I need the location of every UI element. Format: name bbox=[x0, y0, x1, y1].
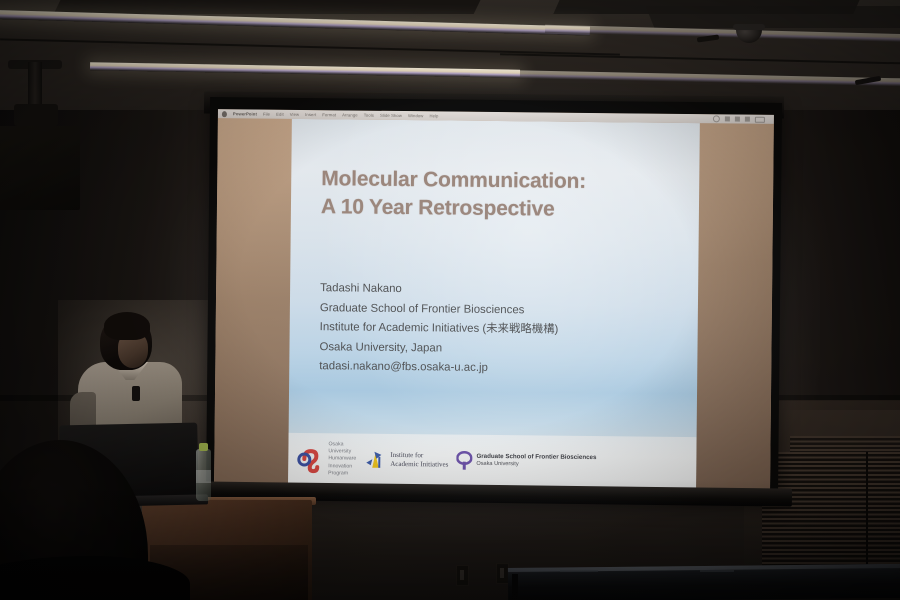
search-icon[interactable] bbox=[713, 115, 720, 122]
water-bottle-label bbox=[196, 470, 211, 483]
slide-title: Molecular Communication: A 10 Year Retro… bbox=[321, 165, 682, 225]
projected-desktop: Molecular Communication: A 10 Year Retro… bbox=[214, 109, 774, 490]
slide-title-line-1: Molecular Communication: bbox=[321, 167, 586, 193]
ceiling-panel bbox=[646, 6, 900, 28]
presenter-hair bbox=[104, 312, 150, 340]
front-desk-leg bbox=[512, 574, 518, 600]
ceiling-projector bbox=[14, 104, 58, 126]
presentation-slide: Molecular Communication: A 10 Year Retro… bbox=[288, 119, 700, 489]
slatted-acoustic-panel bbox=[762, 452, 900, 574]
logo-line: Academic Initiatives bbox=[390, 460, 448, 470]
dome-camera-icon bbox=[736, 28, 762, 43]
logo-academic-initiatives-text: Institute for Academic Initiatives bbox=[390, 451, 448, 470]
ceiling-speaker bbox=[0, 126, 80, 210]
menu-item-window[interactable]: Window bbox=[408, 111, 424, 120]
apple-logo-icon[interactable] bbox=[222, 111, 227, 117]
desk-cable-slot bbox=[700, 570, 734, 572]
presenter-lapel-microphone bbox=[132, 386, 140, 401]
wall-outlet bbox=[456, 565, 469, 586]
menu-item-tools[interactable]: Tools bbox=[364, 111, 374, 120]
logo-osaka-humanware: Osaka University Humanware Innovation Pr… bbox=[294, 440, 356, 478]
logo-line: Program bbox=[328, 470, 356, 478]
logo-osaka-humanware-text: Osaka University Humanware Innovation Pr… bbox=[328, 441, 356, 478]
light-strip-icon bbox=[470, 69, 900, 86]
fbs-mark-icon bbox=[456, 451, 472, 471]
humanware-mark-icon bbox=[294, 444, 324, 474]
wifi-icon[interactable] bbox=[725, 116, 730, 121]
menu-item-view[interactable]: View bbox=[290, 110, 300, 119]
ceiling-panel bbox=[54, 0, 487, 14]
light-strip-icon bbox=[90, 62, 520, 78]
logo-frontier-biosciences-text: Graduate School of Frontier Biosciences … bbox=[476, 453, 596, 469]
logo-line: Humanware bbox=[328, 456, 356, 464]
logo-frontier-biosciences: Graduate School of Frontier Biosciences … bbox=[456, 451, 596, 472]
ceiling-seam bbox=[500, 53, 900, 65]
menu-bar-status-area bbox=[713, 115, 774, 123]
lecture-hall-photo: Molecular Communication: A 10 Year Retro… bbox=[0, 0, 900, 600]
menu-item-help[interactable]: Help bbox=[429, 111, 438, 120]
volume-icon[interactable] bbox=[735, 117, 740, 122]
slide-title-line-2: A 10 Year Retrospective bbox=[321, 194, 681, 226]
menu-item-file[interactable]: File bbox=[263, 110, 270, 119]
logo-line: Osaka University bbox=[476, 461, 596, 469]
slat-panel-seam bbox=[866, 452, 868, 574]
iai-mark-icon bbox=[364, 450, 386, 470]
menu-item-arrange[interactable]: Arrange bbox=[342, 110, 358, 119]
battery-icon[interactable] bbox=[755, 116, 765, 122]
slide-body-line-email: tadasi.nakano@fbs.osaka-u.ac.jp bbox=[319, 358, 689, 381]
water-bottle-cap bbox=[199, 443, 208, 451]
menu-item-format[interactable]: Format bbox=[322, 110, 336, 119]
menu-item-app[interactable]: PowerPoint bbox=[233, 109, 257, 118]
bluetooth-icon[interactable] bbox=[745, 117, 750, 122]
projection-screen: Molecular Communication: A 10 Year Retro… bbox=[206, 97, 782, 503]
desk-cable-slot bbox=[560, 570, 598, 572]
menu-item-insert[interactable]: Insert bbox=[305, 110, 316, 119]
right-wall bbox=[770, 110, 900, 410]
slide-logo-strip: Osaka University Humanware Innovation Pr… bbox=[288, 433, 697, 489]
menu-item-slide-show[interactable]: Slide Show bbox=[380, 111, 402, 120]
slide-body: Tadashi Nakano Graduate School of Fronti… bbox=[319, 279, 690, 381]
menu-item-edit[interactable]: Edit bbox=[276, 110, 284, 119]
logo-academic-initiatives: Institute for Academic Initiatives bbox=[364, 450, 448, 471]
